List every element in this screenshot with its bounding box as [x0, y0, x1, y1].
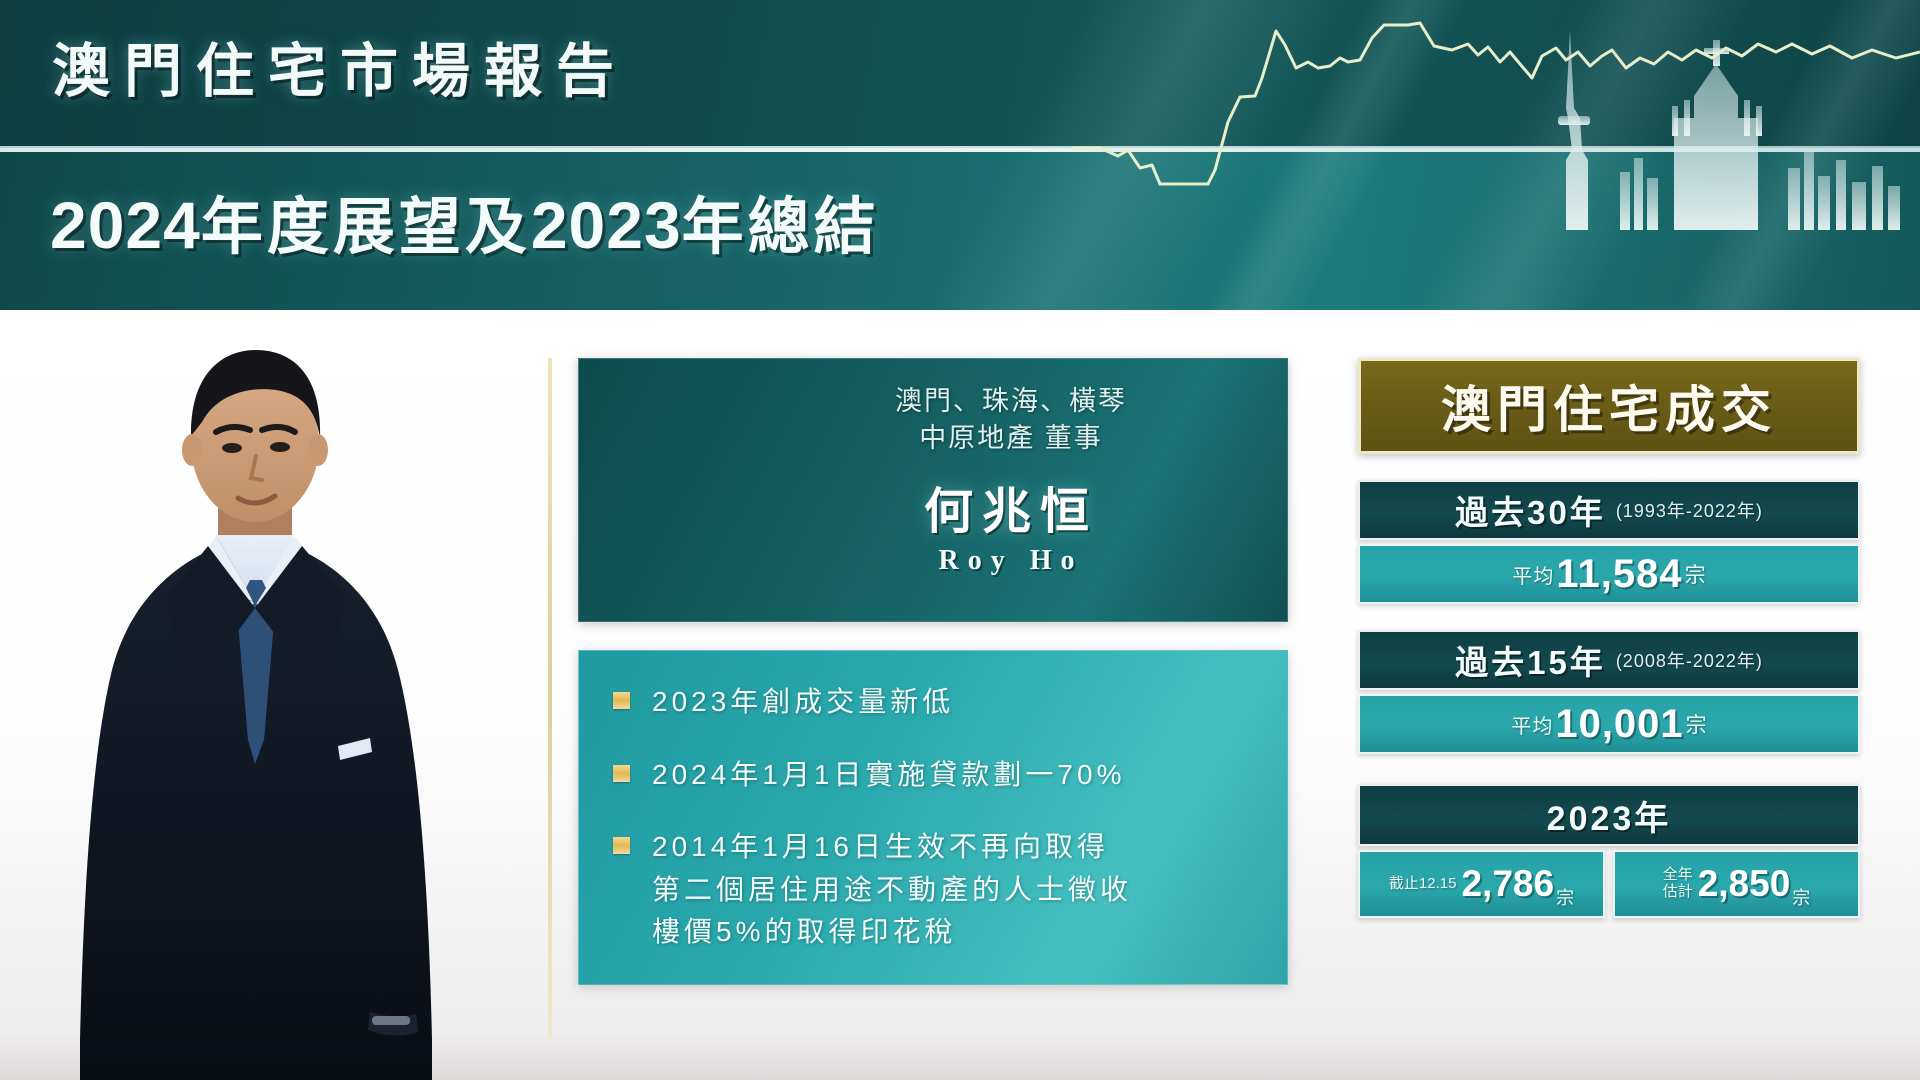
stat-value-unit: 宗 [1685, 559, 1706, 589]
stat-value-label: 平均 [1511, 710, 1553, 739]
stat-value-row: 平均 10,001 宗 [1358, 694, 1860, 754]
list-item-label: 2024年1月1日實施貸款劃一70% [652, 754, 1125, 797]
year-cell-caption: 截止12.15 [1389, 876, 1457, 893]
list-item-label: 2023年創成交量新低 [652, 681, 954, 724]
presenter-name-card: 澳門、珠海、橫琴 中原地產 董事 何兆恒 Roy Ho [578, 358, 1288, 622]
year-cell-number: 2,850 [1698, 863, 1791, 905]
stat-value-label: 平均 [1512, 560, 1554, 589]
bullet-square-icon [613, 837, 630, 854]
presenter-name-en: Roy Ho [771, 545, 1251, 577]
slide-header: 澳門住宅市場報告 2024年度展望及2023年總結 [0, 0, 1920, 310]
stat-value-number: 11,584 [1556, 552, 1682, 597]
subtitle-tail-text: 年總結 [682, 193, 880, 262]
stat-block-30y: 過去30年 (1993年-2022年) 平均 11,584 宗 [1358, 480, 1860, 604]
year-cell-number: 2,786 [1461, 863, 1554, 905]
presenter-role-line2: 中原地產 董事 [771, 420, 1251, 457]
subtitle-year-2023: 2023 [531, 188, 682, 262]
bullet-square-icon [613, 692, 630, 709]
bullet-square-icon [613, 765, 630, 782]
header-divider-line [0, 146, 1920, 152]
stat-block-15y: 過去15年 (2008年-2022年) 平均 10,001 宗 [1358, 630, 1860, 754]
presenter-name-zh: 何兆恒 [771, 472, 1251, 543]
year-cell-ytd: 截止12.15 2,786 宗 [1358, 850, 1605, 918]
year-cell-unit: 宗 [1792, 884, 1810, 910]
stat-head: 過去15年 (2008年-2022年) [1358, 630, 1860, 690]
stats-panel: 澳門住宅成交 過去30年 (1993年-2022年) 平均 11,584 宗 過… [1358, 358, 1860, 918]
stat-head-range: (1993年-2022年) [1616, 497, 1763, 523]
presenter-role-line1: 澳門、珠海、橫琴 [771, 383, 1251, 420]
page-title: 澳門住宅市場報告 [52, 24, 628, 108]
slide-root: 澳門住宅市場報告 2024年度展望及2023年總結 [0, 0, 1920, 1080]
stat-head-range: (2008年-2022年) [1616, 647, 1763, 673]
year-cell-forecast: 全年 估計 2,850 宗 [1613, 850, 1860, 918]
stat-head-main: 過去15年 [1455, 636, 1606, 684]
center-gold-divider [548, 358, 552, 1038]
year-cell-caption-line2: 估計 [1663, 884, 1693, 901]
year-value-row: 截止12.15 2,786 宗 全年 估計 2,850 宗 [1358, 850, 1860, 918]
year-head: 2023年 [1358, 784, 1860, 846]
stat-value-row: 平均 11,584 宗 [1358, 544, 1860, 604]
subtitle-year-2024: 2024 [50, 188, 201, 262]
year-cell-caption-line1: 截止12.15 [1389, 876, 1457, 893]
page-subtitle: 2024年度展望及2023年總結 [50, 176, 880, 266]
list-item-label: 2014年1月16日生效不再向取得 第二個居住用途不動產的人士徵收 樓價5%的取… [652, 826, 1132, 954]
stat-head: 過去30年 (1993年-2022年) [1358, 480, 1860, 540]
stats-panel-title-label: 澳門住宅成交 [1441, 370, 1777, 442]
list-item: 2023年創成交量新低 [613, 681, 1261, 724]
subtitle-middle-text: 年度展望及 [201, 193, 531, 262]
list-item: 2024年1月1日實施貸款劃一70% [613, 754, 1261, 797]
stat-value-unit: 宗 [1686, 709, 1707, 739]
list-item: 2014年1月16日生效不再向取得 第二個居住用途不動產的人士徵收 樓價5%的取… [613, 826, 1261, 954]
stat-block-2023: 2023年 截止12.15 2,786 宗 全年 估計 2,850 [1358, 784, 1860, 918]
year-cell-unit: 宗 [1556, 884, 1574, 910]
year-cell-caption-line1: 全年 [1663, 867, 1693, 884]
year-head-label: 2023年 [1547, 791, 1672, 840]
presenter-photo [40, 340, 470, 1080]
stat-value-number: 10,001 [1555, 702, 1683, 747]
year-cell-caption: 全年 估計 [1663, 867, 1693, 901]
stat-head-main: 過去30年 [1455, 486, 1606, 534]
presenter-portrait-icon [40, 340, 470, 1080]
key-points-card: 2023年創成交量新低 2024年1月1日實施貸款劃一70% 2014年1月16… [578, 650, 1288, 985]
stats-panel-title: 澳門住宅成交 [1358, 358, 1860, 454]
